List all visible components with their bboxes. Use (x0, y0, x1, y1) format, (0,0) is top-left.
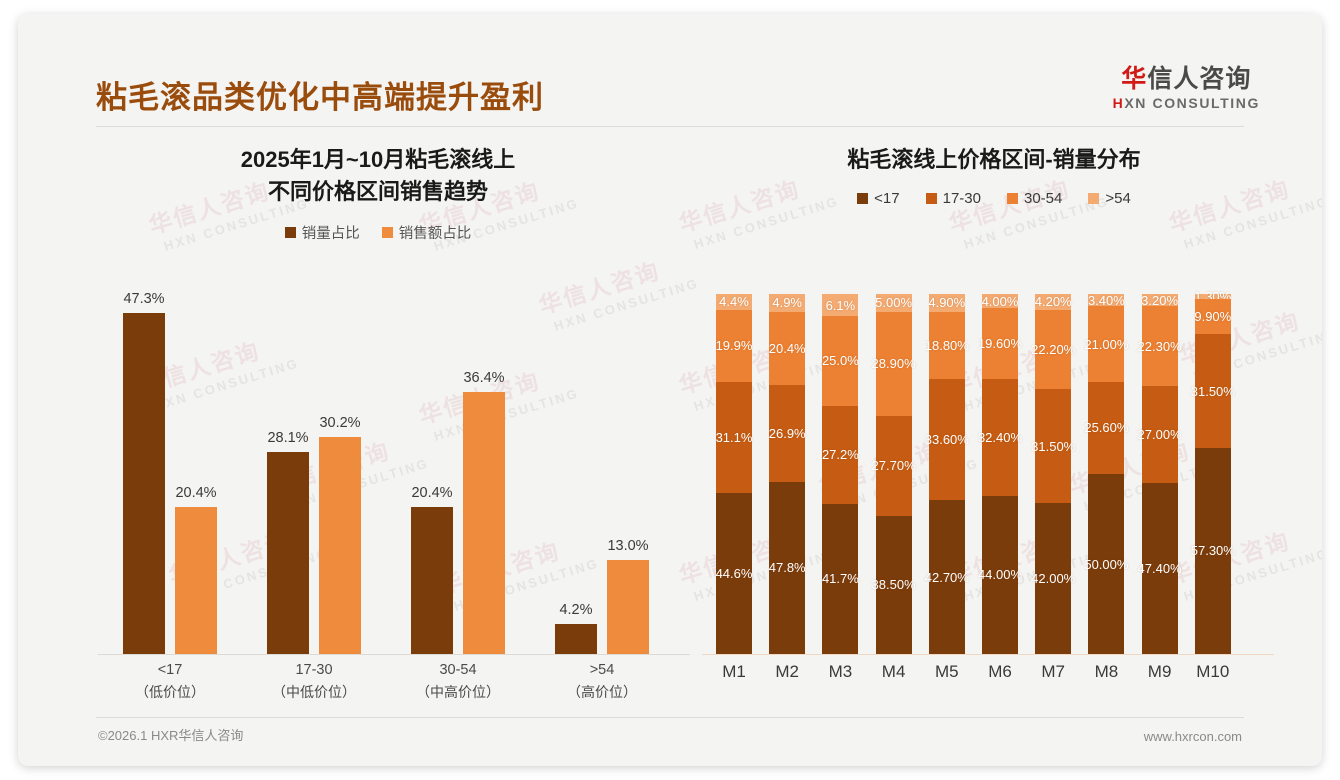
segment-value-label: 44.6% (716, 566, 753, 581)
stacked-segment[interactable]: 4.00% (982, 294, 1018, 308)
legend-item[interactable]: 30-54 (1007, 190, 1062, 207)
segment-value-label: 28.90% (872, 356, 916, 371)
stacked-segment[interactable]: 44.6% (716, 493, 752, 654)
segment-value-label: 41.7% (822, 571, 859, 586)
stacked-segment[interactable]: 27.70% (876, 416, 912, 516)
stacked-bar[interactable]: 4.90%18.80%33.60%42.70% (929, 294, 965, 654)
left-axis-categories: <17（低价位）17-30（中低价位）30-54（中高价位）>54（高价位） (106, 660, 682, 720)
page-title: 粘毛滚品类优化中高端提升盈利 (96, 72, 544, 117)
bar-rect[interactable] (175, 507, 217, 654)
logo-en-accent: H (1113, 95, 1125, 111)
logo-chinese-rest: 信人咨询 (1147, 65, 1251, 93)
stacked-segment[interactable]: 6.1% (822, 294, 858, 316)
stacked-segment[interactable]: 19.9% (716, 310, 752, 382)
logo-en-rest: XN CONSULTING (1124, 95, 1260, 111)
header-divider (96, 126, 1244, 127)
legend-item[interactable]: <17 (857, 190, 899, 207)
footer-copyright: ©2026.1 HXR华信人咨询 (98, 725, 243, 744)
segment-value-label: 22.20% (1031, 342, 1075, 357)
axis-month-label: M8 (1078, 662, 1134, 682)
legend-swatch-icon (285, 227, 296, 238)
axis-month-label: M5 (919, 662, 975, 682)
bar-column[interactable]: 13.0% (607, 294, 649, 654)
segment-value-label: 27.70% (872, 458, 916, 473)
legend-item[interactable]: 销售额占比 (382, 222, 472, 243)
stacked-segment[interactable]: 47.8% (769, 482, 805, 654)
bar-value-label: 47.3% (123, 291, 164, 307)
stacked-bar[interactable]: 4.20%22.20%31.50%42.00% (1035, 294, 1071, 654)
segment-value-label: 22.30% (1138, 339, 1182, 354)
axis-month-label: M3 (812, 662, 868, 682)
grouped-bar-plot: 47.3%20.4%28.1%30.2%20.4%36.4%4.2%13.0% (106, 294, 682, 654)
segment-value-label: 47.40% (1138, 561, 1182, 576)
segment-value-label: 38.50% (872, 577, 916, 592)
legend-label: >54 (1105, 190, 1130, 207)
stacked-segment[interactable]: 19.60% (982, 308, 1018, 379)
bar-group: 20.4%36.4% (402, 294, 514, 654)
axis-category-main: 30-54 (439, 662, 476, 678)
right-chart-title: 粘毛滚线上价格区间-销量分布 (694, 144, 1294, 176)
bar-column[interactable]: 4.2% (555, 294, 597, 654)
stacked-segment[interactable]: 41.7% (822, 504, 858, 654)
stacked-segment[interactable]: 26.9% (769, 385, 805, 482)
left-title-line2: 不同价格区间销售趋势 (58, 176, 698, 208)
axis-month-label: M1 (706, 662, 762, 682)
stacked-bar[interactable]: 4.00%19.60%32.40%44.00% (982, 294, 1018, 654)
bar-rect[interactable] (319, 437, 361, 654)
axis-category-label: 30-54（中高价位） (402, 660, 514, 703)
right-axis-line (702, 654, 1274, 655)
axis-month-label: M6 (972, 662, 1028, 682)
stacked-segment[interactable]: 27.2% (822, 406, 858, 504)
legend-swatch-icon (382, 227, 393, 238)
stacked-segment[interactable]: 20.4% (769, 312, 805, 385)
logo-chinese-text: 华信人咨询 (1113, 66, 1260, 92)
bar-column[interactable]: 20.4% (175, 294, 217, 654)
segment-value-label: 31.50% (1191, 384, 1235, 399)
axis-category-main: >54 (590, 662, 615, 678)
bar-column[interactable]: 28.1% (267, 294, 309, 654)
bar-value-label: 20.4% (175, 485, 216, 501)
segment-value-label: 32.40% (978, 430, 1022, 445)
bar-group: 28.1%30.2% (258, 294, 370, 654)
segment-value-label: 25.60% (1084, 420, 1128, 435)
axis-category-label: >54（高价位） (546, 660, 658, 703)
legend-label: <17 (874, 190, 899, 207)
slide-header: 粘毛滚品类优化中高端提升盈利 华信人咨询 HXN CONSULTING (18, 14, 1322, 132)
segment-value-label: 42.00% (1031, 571, 1075, 586)
stacked-segment[interactable]: 57.30% (1195, 448, 1231, 654)
segment-value-label: 6.1% (826, 298, 856, 313)
stacked-bar[interactable]: 3.20%22.30%27.00%47.40% (1142, 294, 1178, 654)
axis-category-sub: （低价位） (114, 682, 226, 703)
segment-value-label: 20.4% (769, 341, 806, 356)
bar-column[interactable]: 30.2% (319, 294, 361, 654)
axis-category-sub: （中高价位） (402, 682, 514, 703)
stacked-segment[interactable]: 4.9% (769, 294, 805, 312)
segment-value-label: 4.90% (928, 295, 965, 310)
segment-value-label: 4.4% (719, 294, 749, 309)
axis-category-main: 17-30 (295, 662, 332, 678)
legend-swatch-icon (926, 193, 937, 204)
stacked-segment[interactable]: 38.50% (876, 516, 912, 654)
legend-label: 销售额占比 (399, 222, 472, 243)
stacked-bar[interactable]: 4.9%20.4%26.9%47.8% (769, 294, 805, 654)
bar-rect[interactable] (607, 560, 649, 654)
axis-category-label: 17-30（中低价位） (258, 660, 370, 703)
stacked-segment[interactable]: 44.00% (982, 496, 1018, 654)
axis-month-label: M9 (1132, 662, 1188, 682)
stacked-segment[interactable]: 42.70% (929, 500, 965, 654)
segment-value-label: 9.90% (1194, 309, 1231, 324)
stacked-segment[interactable]: 25.60% (1088, 382, 1124, 474)
stacked-segment[interactable]: 27.00% (1142, 386, 1178, 483)
right-chart-panel: 粘毛滚线上价格区间-销量分布 <1717-3030-54>54 4.4%19.9… (694, 144, 1294, 704)
stacked-segment[interactable]: 47.40% (1142, 483, 1178, 654)
left-chart-panel: 2025年1月~10月粘毛滚线上 不同价格区间销售趋势 销量占比销售额占比 47… (58, 144, 698, 704)
axis-category-sub: （中低价位） (258, 682, 370, 703)
stacked-segment[interactable]: 33.60% (929, 379, 965, 500)
legend-swatch-icon (1007, 193, 1018, 204)
stacked-segment[interactable]: 21.00% (1088, 306, 1124, 382)
left-axis-line (98, 654, 690, 655)
legend-item[interactable]: 17-30 (926, 190, 981, 207)
legend-label: 30-54 (1024, 190, 1062, 207)
stacked-segment[interactable]: 31.1% (716, 382, 752, 494)
bar-rect[interactable] (463, 392, 505, 654)
stacked-bar[interactable]: 3.40%21.00%25.60%50.00% (1088, 294, 1124, 654)
bar-value-label: 4.2% (559, 602, 592, 618)
stacked-segment[interactable]: 22.30% (1142, 306, 1178, 386)
segment-value-label: 26.9% (769, 426, 806, 441)
slide-canvas: 华信人咨询HXN CONSULTING华信人咨询HXN CONSULTING华信… (18, 14, 1322, 766)
bar-rect[interactable] (267, 452, 309, 654)
segment-value-label: 31.50% (1031, 439, 1075, 454)
logo-english-text: HXN CONSULTING (1113, 95, 1260, 111)
stacked-segment[interactable]: 25.0% (822, 316, 858, 406)
bar-value-label: 28.1% (267, 430, 308, 446)
segment-value-label: 31.1% (716, 430, 753, 445)
bar-group: 4.2%13.0% (546, 294, 658, 654)
stacked-segment[interactable]: 31.50% (1035, 389, 1071, 502)
stacked-segment[interactable]: 3.40% (1088, 294, 1124, 306)
right-axis-categories: M1M2M3M4M5M6M7M8M9M10 (706, 662, 1266, 694)
axis-month-label: M4 (866, 662, 922, 682)
axis-month-label: M10 (1185, 662, 1241, 682)
legend-item[interactable]: 销量占比 (285, 222, 360, 243)
footer-website: www.hxrcon.com (1144, 729, 1242, 744)
axis-month-label: M7 (1025, 662, 1081, 682)
bar-column[interactable]: 20.4% (411, 294, 453, 654)
axis-category-main: <17 (158, 662, 183, 678)
segment-value-label: 19.9% (716, 338, 753, 353)
axis-category-label: <17（低价位） (114, 660, 226, 703)
segment-value-label: 4.9% (772, 295, 802, 310)
segment-value-label: 57.30% (1191, 543, 1235, 558)
stacked-bar[interactable]: 6.1%25.0%27.2%41.7% (822, 294, 858, 654)
stacked-segment[interactable]: 31.50% (1195, 334, 1231, 447)
stacked-segment[interactable]: 4.20% (1035, 294, 1071, 309)
stacked-segment[interactable]: 18.80% (929, 312, 965, 380)
stacked-segment[interactable]: 9.90% (1195, 299, 1231, 335)
stacked-segment[interactable]: 5.00% (876, 294, 912, 312)
bar-rect[interactable] (555, 624, 597, 654)
bar-group: 47.3%20.4% (114, 294, 226, 654)
legend-label: 销量占比 (302, 222, 360, 243)
stacked-segment[interactable]: 22.20% (1035, 310, 1071, 390)
segment-value-label: 44.00% (978, 567, 1022, 582)
segment-value-label: 25.0% (822, 353, 859, 368)
bar-value-label: 30.2% (319, 415, 360, 431)
bar-value-label: 13.0% (607, 538, 648, 554)
footer-divider (96, 717, 1244, 718)
bar-rect[interactable] (123, 313, 165, 654)
stacked-segment[interactable]: 42.00% (1035, 503, 1071, 654)
bar-column[interactable]: 47.3% (123, 294, 165, 654)
logo-accent-char: 华 (1121, 65, 1147, 93)
segment-value-label: 18.80% (925, 338, 969, 353)
legend-item[interactable]: >54 (1088, 190, 1130, 207)
stacked-segment[interactable]: 4.90% (929, 294, 965, 312)
axis-category-sub: （高价位） (546, 682, 658, 703)
left-title-line1: 2025年1月~10月粘毛滚线上 (241, 147, 516, 172)
legend-swatch-icon (857, 193, 868, 204)
left-chart-title: 2025年1月~10月粘毛滚线上 不同价格区间销售趋势 (58, 144, 698, 208)
stacked-bar[interactable]: 4.4%19.9%31.1%44.6% (716, 294, 752, 654)
segment-value-label: 27.00% (1138, 427, 1182, 442)
segment-value-label: 50.00% (1084, 557, 1128, 572)
stacked-segment[interactable]: 28.90% (876, 312, 912, 416)
legend-label: 17-30 (943, 190, 981, 207)
company-logo: 华信人咨询 HXN CONSULTING (1113, 66, 1260, 111)
segment-value-label: 47.8% (769, 560, 806, 575)
stacked-bar[interactable]: 5.00%28.90%27.70%38.50% (876, 294, 912, 654)
bar-column[interactable]: 36.4% (463, 294, 505, 654)
legend-swatch-icon (1088, 193, 1099, 204)
segment-value-label: 42.70% (925, 570, 969, 585)
stacked-segment[interactable]: 3.20% (1142, 294, 1178, 306)
segment-value-label: 5.00% (875, 295, 912, 310)
stacked-segment[interactable]: 50.00% (1088, 474, 1124, 654)
segment-value-label: 4.00% (982, 294, 1019, 309)
bar-value-label: 20.4% (411, 485, 452, 501)
stacked-segment[interactable]: 4.4% (716, 294, 752, 310)
segment-value-label: 27.2% (822, 447, 859, 462)
segment-value-label: 33.60% (925, 432, 969, 447)
stacked-segment[interactable]: 32.40% (982, 379, 1018, 496)
axis-month-label: M2 (759, 662, 815, 682)
bar-value-label: 36.4% (463, 370, 504, 386)
left-chart-legend: 销量占比销售额占比 (58, 222, 698, 243)
segment-value-label: 19.60% (978, 336, 1022, 351)
right-chart-legend: <1717-3030-54>54 (694, 190, 1294, 207)
segment-value-label: 21.00% (1084, 337, 1128, 352)
stacked-bar-plot: 4.4%19.9%31.1%44.6%4.9%20.4%26.9%47.8%6.… (706, 294, 1266, 654)
segment-value-label: 4.20% (1035, 294, 1072, 309)
stacked-bar[interactable]: 1.30%9.90%31.50%57.30% (1195, 294, 1231, 654)
bar-rect[interactable] (411, 507, 453, 654)
